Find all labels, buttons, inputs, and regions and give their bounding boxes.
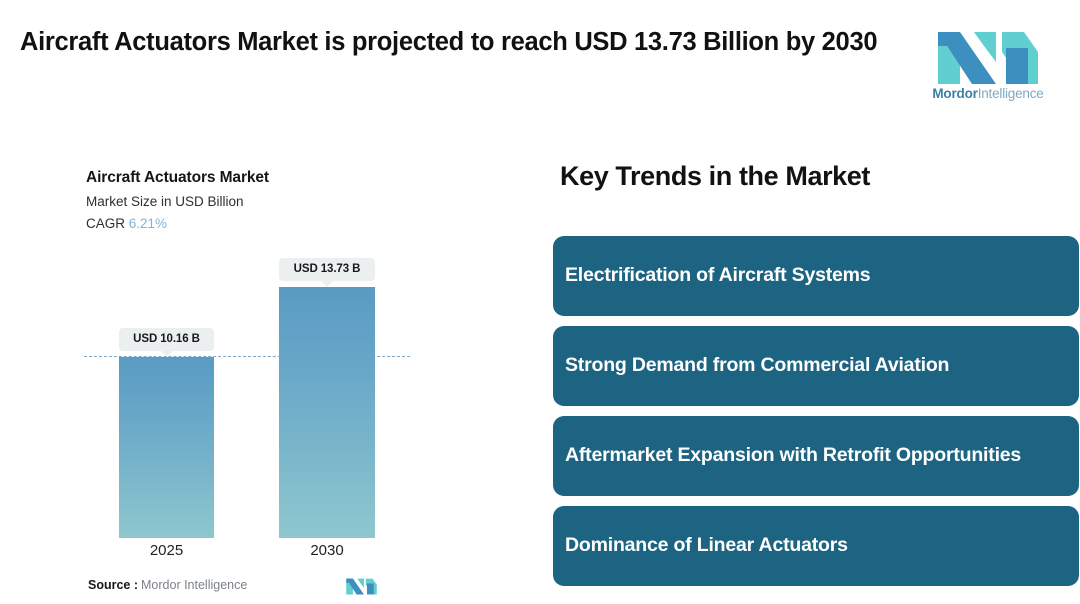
trend-card-3[interactable]: Aftermarket Expansion with Retrofit Oppo…	[553, 416, 1079, 496]
trend-card-3-label: Aftermarket Expansion with Retrofit Oppo…	[565, 443, 1021, 469]
brand-name-bold: Mordor	[932, 86, 977, 101]
brand-name-light: Intelligence	[978, 86, 1044, 101]
bar-2030[interactable]	[279, 287, 375, 538]
bar-chart-plot: USD 10.16 B USD 13.73 B 2025 2030 Source…	[0, 150, 540, 604]
source-label: Source :	[88, 578, 138, 592]
mordor-m-mark-small	[345, 575, 378, 595]
key-trends-list: Electrification of Aircraft Systems Stro…	[553, 236, 1080, 596]
page-title: Aircraft Actuators Market is projected t…	[20, 26, 910, 60]
trend-card-2[interactable]: Strong Demand from Commercial Aviation	[553, 326, 1079, 406]
data-label-2030: USD 13.73 B	[279, 258, 375, 281]
chart-panel: Aircraft Actuators Market Market Size in…	[0, 150, 540, 604]
trend-card-1-label: Electrification of Aircraft Systems	[565, 263, 870, 289]
trend-card-1[interactable]: Electrification of Aircraft Systems	[553, 236, 1079, 316]
trend-card-4[interactable]: Dominance of Linear Actuators	[553, 506, 1079, 586]
x-axis-tick-2030: 2030	[279, 542, 375, 559]
x-axis-tick-2025: 2025	[119, 542, 214, 559]
mordor-intelligence-logo: MordorIntelligence	[918, 22, 1058, 106]
source-value: Mordor Intelligence	[141, 578, 247, 592]
mordor-wordmark: MordorIntelligence	[918, 86, 1058, 101]
trend-card-2-label: Strong Demand from Commercial Aviation	[565, 353, 949, 379]
page-header: Aircraft Actuators Market is projected t…	[0, 0, 1080, 120]
key-trends-heading: Key Trends in the Market	[560, 161, 870, 192]
key-trends-panel: Key Trends in the Market Electrification…	[552, 150, 1080, 604]
trend-card-4-label: Dominance of Linear Actuators	[565, 533, 848, 559]
source-note: Source :Mordor Intelligence	[88, 578, 247, 592]
bar-2025[interactable]	[119, 357, 214, 538]
data-label-2025: USD 10.16 B	[119, 328, 214, 351]
mordor-m-mark	[934, 22, 1042, 84]
